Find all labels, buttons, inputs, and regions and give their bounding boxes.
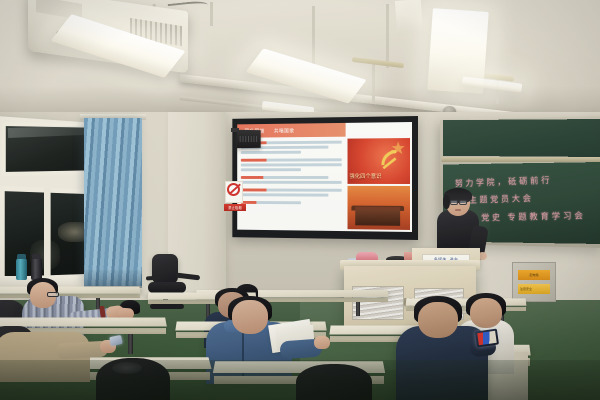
electrical-box-label-bottom-text: 注意安全 — [520, 287, 532, 291]
water-bottle-black — [31, 258, 42, 280]
slide-body-text — [241, 141, 346, 210]
water-bottle-teal — [16, 258, 27, 280]
presentation-slide: 同升国旗 共唱国歌 强化 — [237, 122, 412, 232]
floor-foreground-shadow — [0, 360, 600, 400]
blackboard-upper-panel — [443, 119, 600, 157]
student-navy-right-head — [418, 302, 458, 338]
blackboard-chalk-line: 党史 专题教育学习会 — [481, 208, 586, 223]
presenter-glasses-right-lens — [459, 200, 467, 205]
speaker-grill-icon — [240, 136, 257, 142]
electrical-box[interactable] — [512, 262, 556, 302]
curtain-shadow — [84, 270, 142, 288]
slide-title-part-2: 共唱国歌 — [274, 127, 295, 134]
presenter-hair-side — [443, 195, 450, 209]
blackboard-chalk-rail — [441, 157, 600, 162]
electrical-box-label-top-text: 配电箱 — [529, 273, 538, 277]
student-denim-hand — [314, 336, 330, 349]
student-striped-shirt-glasses-icon — [47, 292, 59, 297]
slide-image-building — [348, 186, 410, 230]
desk-row-left-upper — [0, 286, 141, 293]
student-white-shirt-head — [470, 298, 502, 328]
light-hanger — [372, 62, 375, 102]
slide-paragraph — [241, 188, 346, 196]
window-mullion — [44, 188, 51, 282]
light-hanger — [386, 4, 389, 68]
building-body — [355, 210, 400, 226]
presenter-glasses-left-lens — [450, 200, 458, 205]
desk-leg — [128, 332, 133, 354]
bottle-cap — [17, 254, 26, 259]
light-hanger — [312, 6, 315, 64]
slide-paragraph — [241, 176, 346, 184]
slide-paragraph — [241, 201, 346, 205]
phone-screen[interactable] — [477, 331, 496, 345]
electrical-box-label-bottom: 注意安全 — [518, 284, 550, 294]
ceiling-paper-sign — [395, 0, 423, 35]
student-denim-head — [232, 300, 268, 334]
office-chair-base — [150, 304, 184, 309]
classroom-photo: 同升国旗 共唱国歌 强化 — [0, 0, 600, 400]
bottle-cap — [32, 254, 41, 259]
slide-image-caption: 强化四个意识 — [349, 172, 381, 180]
desk-leg — [356, 300, 360, 316]
presenter-mouth — [455, 209, 461, 211]
window-curtain[interactable] — [84, 118, 142, 286]
blackboard-chalk-line: 努力学院，砥砺前行 — [455, 173, 553, 189]
no-smoking-label-text: 禁止吸烟 — [228, 205, 242, 210]
electrical-box-label-top: 配电箱 — [518, 270, 550, 280]
star-icon — [390, 140, 406, 156]
slide-image-party-emblem: 强化四个意识 — [348, 138, 410, 184]
no-smoking-label: 禁止吸烟 — [224, 204, 246, 211]
slide-paragraph — [241, 158, 346, 171]
desk-row-left-mid — [0, 318, 167, 327]
light-hanger — [210, 2, 213, 26]
